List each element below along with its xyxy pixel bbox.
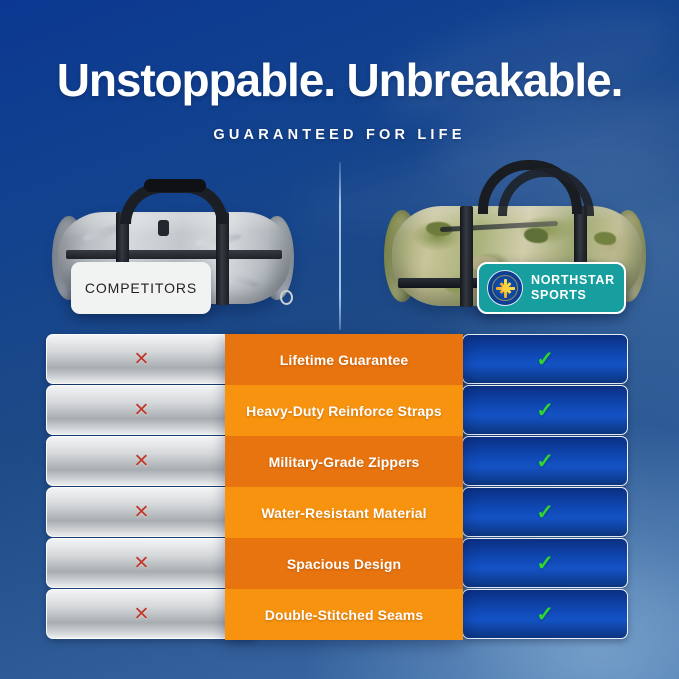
feature-label: Water-Resistant Material bbox=[225, 487, 463, 538]
check-icon: ✓ bbox=[536, 400, 554, 421]
comparison-infographic: Unstoppable. Unbreakable. GUARANTEED FOR… bbox=[0, 0, 679, 679]
feature-label: Heavy-Duty Reinforce Straps bbox=[225, 385, 463, 436]
brand-cell: ✓ bbox=[462, 487, 628, 537]
bag-clip bbox=[280, 290, 293, 305]
check-icon: ✓ bbox=[536, 553, 554, 574]
brand-cell: ✓ bbox=[462, 538, 628, 588]
brand-name-line1: NORTHSTAR bbox=[531, 273, 615, 288]
bag-handle-grip bbox=[144, 179, 206, 192]
x-icon: ✕ bbox=[134, 503, 150, 522]
brand-cell: ✓ bbox=[462, 334, 628, 384]
page-subheadline: GUARANTEED FOR LIFE bbox=[0, 127, 679, 143]
competitors-badge: COMPETITORS bbox=[71, 262, 211, 314]
northstar-sports-badge: NORTHSTAR SPORTS bbox=[477, 262, 626, 314]
check-icon: ✓ bbox=[536, 349, 554, 370]
logo-core bbox=[502, 285, 509, 292]
x-icon: ✕ bbox=[134, 554, 150, 573]
x-icon: ✕ bbox=[134, 452, 150, 471]
x-icon: ✕ bbox=[134, 401, 150, 420]
brand-cell: ✓ bbox=[462, 385, 628, 435]
page-headline: Unstoppable. Unbreakable. bbox=[0, 57, 679, 105]
feature-label: Lifetime Guarantee bbox=[225, 334, 463, 385]
camo-blotch bbox=[524, 228, 548, 243]
bag-strap-horizontal bbox=[66, 250, 282, 259]
brand-name-line2: SPORTS bbox=[531, 288, 615, 303]
feature-label-strip: Lifetime Guarantee Heavy-Duty Reinforce … bbox=[225, 334, 463, 640]
feature-label: Double-Stitched Seams bbox=[225, 589, 463, 640]
check-icon: ✓ bbox=[536, 502, 554, 523]
check-icon: ✓ bbox=[536, 604, 554, 625]
brand-cell: ✓ bbox=[462, 436, 628, 486]
brand-cell: ✓ bbox=[462, 589, 628, 639]
northstar-badge-text: NORTHSTAR SPORTS bbox=[531, 273, 615, 304]
x-icon: ✕ bbox=[134, 605, 150, 624]
x-icon: ✕ bbox=[134, 350, 150, 369]
camo-blotch bbox=[594, 232, 616, 245]
feature-label: Military-Grade Zippers bbox=[225, 436, 463, 487]
bag-strap-vertical bbox=[216, 212, 229, 305]
compass-star-logo-icon bbox=[487, 270, 523, 306]
bag-strap-vertical bbox=[460, 206, 473, 307]
check-icon: ✓ bbox=[536, 451, 554, 472]
competitors-badge-label: COMPETITORS bbox=[85, 280, 197, 296]
comparison-table: ✕ ✓ ✕ ✓ ✕ ✓ ✕ bbox=[0, 334, 679, 640]
feature-label: Spacious Design bbox=[225, 538, 463, 589]
